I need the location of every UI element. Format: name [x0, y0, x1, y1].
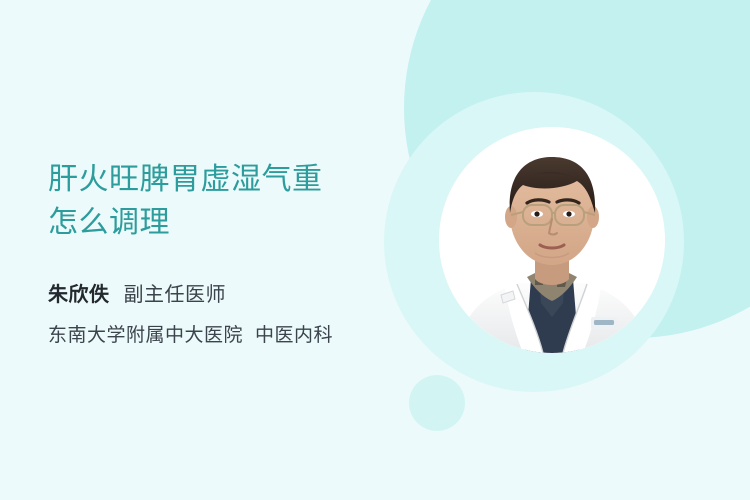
doctor-answer-card: 肝火旺脾胃虚湿气重 怎么调理 朱欣佚 副主任医师 东南大学附属中大医院 中医内科 — [0, 0, 750, 500]
doctor-affiliation-row: 东南大学附属中大医院 中医内科 — [48, 320, 408, 347]
department-name: 中医内科 — [255, 320, 333, 347]
doctor-title: 副主任医师 — [124, 278, 227, 307]
doctor-portrait-photo — [439, 127, 665, 353]
text-block: 肝火旺脾胃虚湿气重 怎么调理 朱欣佚 副主任医师 东南大学附属中大医院 中医内科 — [48, 158, 408, 347]
doctor-identity-row: 朱欣佚 副主任医师 — [48, 278, 408, 307]
background-circle-dot — [409, 375, 465, 431]
hospital-name: 东南大学附属中大医院 — [48, 320, 243, 347]
doctor-name: 朱欣佚 — [48, 278, 110, 307]
page-title: 肝火旺脾胃虚湿气重 怎么调理 — [48, 158, 408, 244]
avatar — [439, 127, 665, 353]
